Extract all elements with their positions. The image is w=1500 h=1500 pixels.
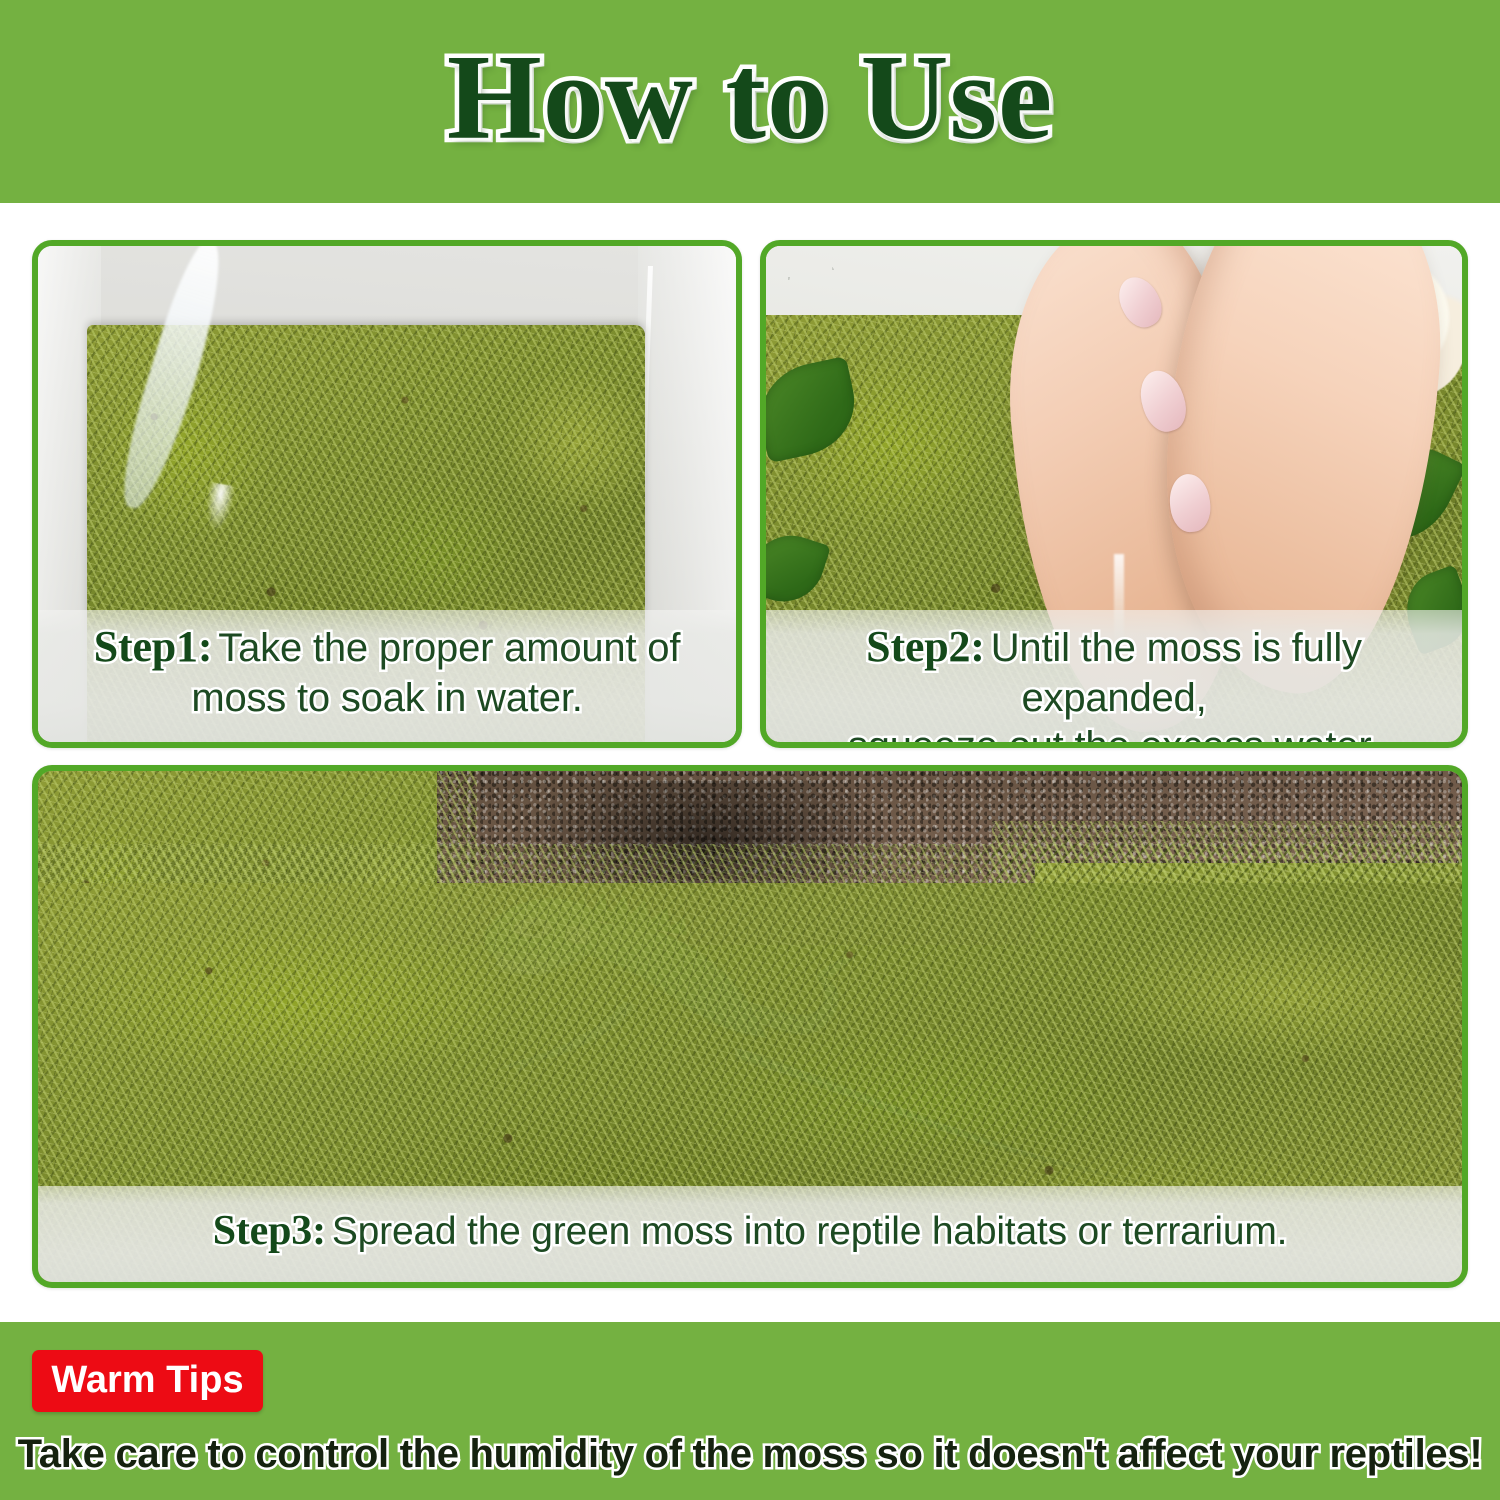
step1-panel: Step1:Take the proper amount of moss to … bbox=[32, 240, 742, 748]
step2-caption-line-1: Until the moss is fully expanded, bbox=[991, 626, 1362, 720]
step2-caption-line-2: squeeze out the excess water. bbox=[848, 724, 1380, 748]
step1-caption-line-2: moss to soak in water. bbox=[191, 676, 582, 720]
step1-caption: Step1:Take the proper amount of moss to … bbox=[38, 610, 736, 742]
step3-panel: Step3:Spread the green moss into reptile… bbox=[32, 765, 1468, 1288]
step2-caption-text: Step2:Until the moss is fully expanded, … bbox=[784, 620, 1444, 748]
warm-tips-badge-label: Warm Tips bbox=[51, 1361, 243, 1399]
how-to-use-infographic: How to Use Step1:Take the proper amount … bbox=[0, 0, 1500, 1500]
step3-label: Step3: bbox=[213, 1208, 326, 1254]
step2-panel: Step2:Until the moss is fully expanded, … bbox=[760, 240, 1468, 748]
step1-caption-text: Step1:Take the proper amount of moss to … bbox=[56, 620, 718, 722]
step3-caption-line-1: Spread the green moss into reptile habit… bbox=[332, 1210, 1287, 1253]
step3-caption-text: Step3:Spread the green moss into reptile… bbox=[213, 1206, 1288, 1257]
warm-tips-text: Take care to control the humidity of the… bbox=[0, 1432, 1500, 1477]
header-band: How to Use bbox=[0, 0, 1500, 203]
warm-tips-badge: Warm Tips bbox=[32, 1350, 263, 1412]
step2-label: Step2: bbox=[866, 622, 985, 671]
step2-caption: Step2:Until the moss is fully expanded, … bbox=[766, 610, 1462, 742]
step1-caption-line-1: Take the proper amount of bbox=[218, 626, 680, 670]
page-title: How to Use bbox=[447, 37, 1053, 159]
step1-label: Step1: bbox=[94, 622, 213, 671]
step3-caption: Step3:Spread the green moss into reptile… bbox=[38, 1186, 1462, 1282]
